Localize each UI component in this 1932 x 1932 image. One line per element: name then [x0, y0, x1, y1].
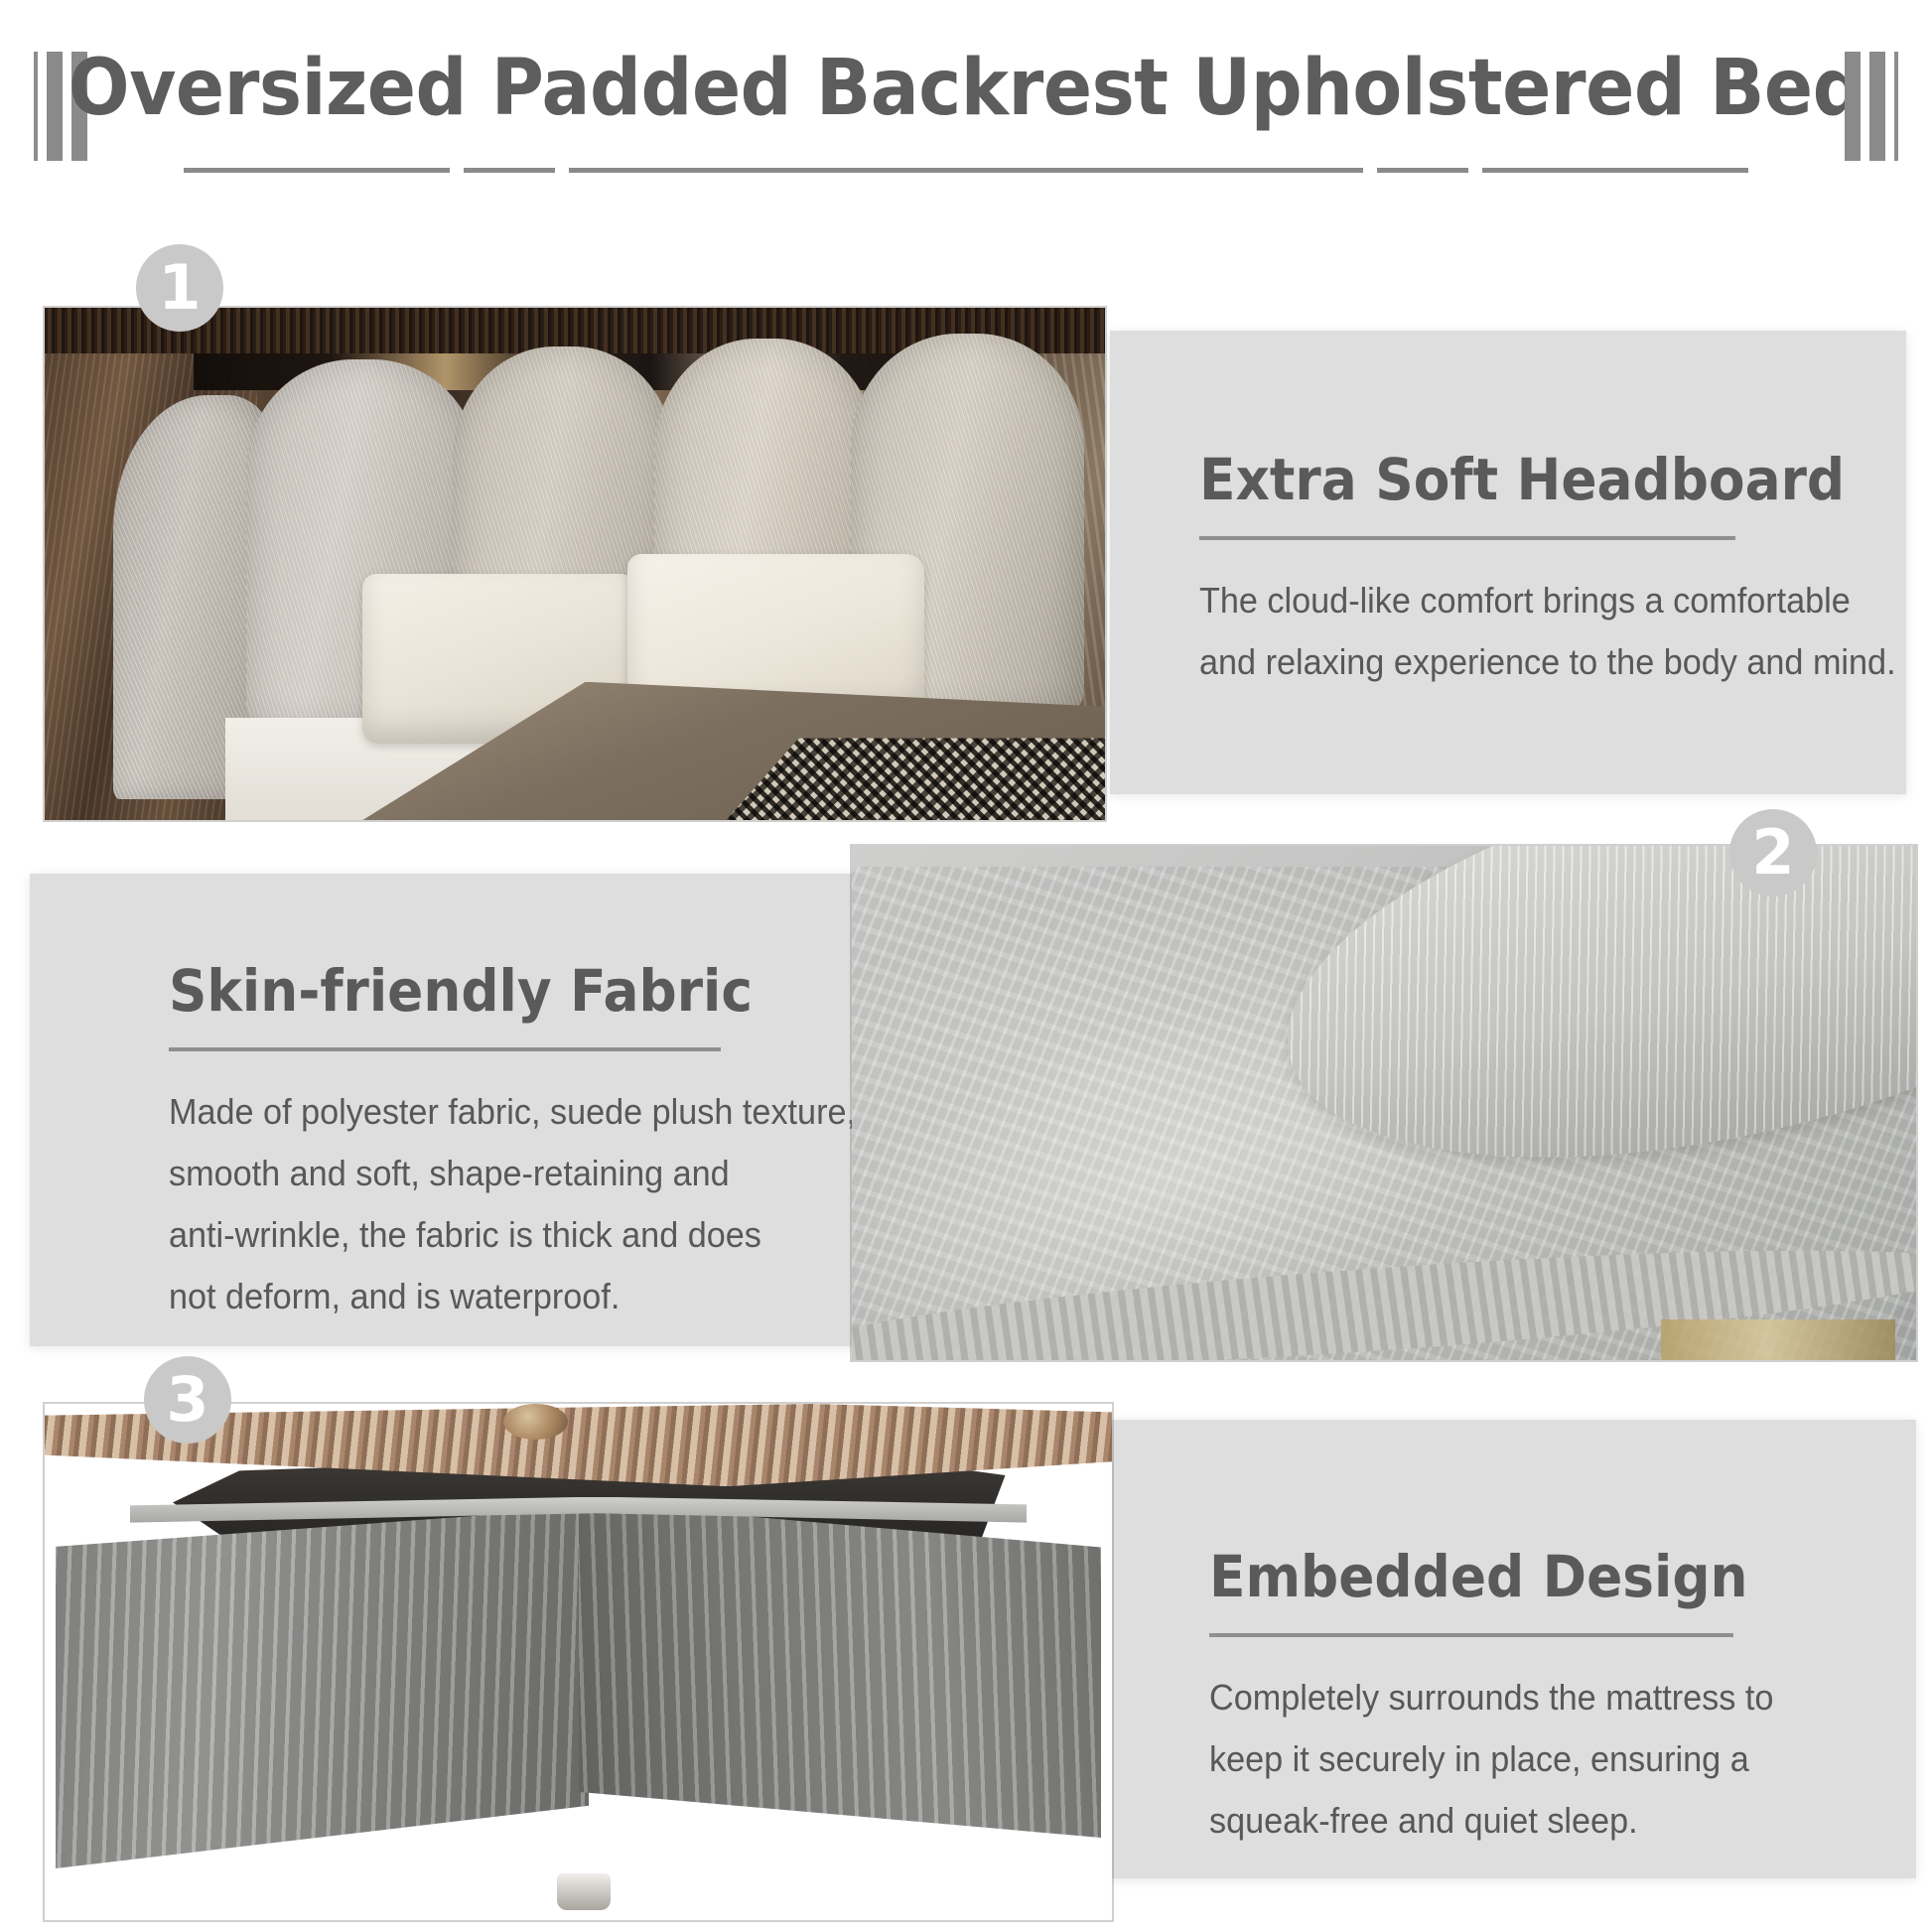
infographic-page: Oversized Padded Backrest Upholstered Be…	[0, 0, 1932, 1932]
feature-1-text-panel: Extra Soft Headboard The cloud-like comf…	[1110, 331, 1906, 794]
feature-3-body-line: keep it securely in place, ensuring a	[1209, 1728, 1813, 1790]
feature-1-content: Extra Soft Headboard The cloud-like comf…	[1199, 450, 1815, 693]
ornament-bar-thick	[47, 52, 63, 161]
feature-1-rule	[1199, 536, 1735, 540]
divider-segment	[464, 168, 555, 173]
feature-3-title: Embedded Design	[1209, 1547, 1794, 1607]
feature-3-rule	[1209, 1633, 1733, 1637]
feature-2-body-line: smooth and soft, shape-retaining and	[169, 1143, 772, 1204]
page-header: Oversized Padded Backrest Upholstered Be…	[0, 0, 1932, 199]
feature-2-body-line: Made of polyester fabric, suede plush te…	[169, 1081, 772, 1143]
slat-knob	[503, 1404, 568, 1440]
ornament-bar-thick	[1845, 52, 1861, 161]
feature-2-image	[852, 846, 1916, 1360]
ornament-bar-thin	[1894, 52, 1898, 161]
feature-3-image	[45, 1404, 1112, 1920]
feature-2-rule	[169, 1047, 721, 1051]
feature-3-body-line: squeak-free and quiet sleep.	[1209, 1790, 1813, 1852]
feature-2-body-line: anti-wrinkle, the fabric is thick and do…	[169, 1204, 772, 1266]
feature-1-body: The cloud-like comfort brings a comforta…	[1199, 570, 1784, 693]
page-title: Oversized Padded Backrest Upholstered Be…	[68, 44, 1864, 133]
divider-segment	[569, 168, 1363, 173]
ornament-bar-thick	[1869, 52, 1885, 161]
feature-1-body-line: The cloud-like comfort brings a comforta…	[1199, 570, 1784, 631]
feature-1-body-line: and relaxing experience to the body and …	[1199, 631, 1784, 693]
fabric-macro-scene	[852, 846, 1916, 1360]
feature-2-text-panel: Skin-friendly Fabric Made of polyester f…	[30, 874, 864, 1346]
feature-2-content: Skin-friendly Fabric Made of polyester f…	[169, 961, 804, 1327]
header-right-ornament	[1845, 52, 1898, 161]
feature-1-title: Extra Soft Headboard	[1199, 450, 1765, 510]
step-badge-1: 1	[136, 244, 223, 332]
fabric-trim-accent	[1661, 1319, 1895, 1360]
feature-1-image	[45, 308, 1105, 820]
headboard-scene	[45, 308, 1105, 820]
header-divider	[0, 166, 1932, 174]
feature-3-body-line: Completely surrounds the mattress to	[1209, 1667, 1813, 1728]
feature-2-title: Skin-friendly Fabric	[169, 961, 754, 1022]
step-badge-3: 3	[144, 1356, 231, 1444]
divider-segment	[1482, 168, 1748, 173]
bed-base-scene	[45, 1404, 1112, 1920]
feature-3-text-panel: Embedded Design Completely surrounds the…	[1102, 1420, 1916, 1878]
ornament-bar-thin	[34, 52, 38, 161]
step-badge-2: 2	[1729, 809, 1817, 897]
feature-3-content: Embedded Design Completely surrounds the…	[1209, 1547, 1845, 1852]
divider-segment	[184, 168, 450, 173]
feature-3-body: Completely surrounds the mattress to kee…	[1209, 1667, 1813, 1852]
feature-2-body: Made of polyester fabric, suede plush te…	[169, 1081, 772, 1327]
divider-segment	[1377, 168, 1468, 173]
feature-2-body-line: not deform, and is waterproof.	[169, 1266, 772, 1327]
chrome-leg	[557, 1873, 611, 1909]
